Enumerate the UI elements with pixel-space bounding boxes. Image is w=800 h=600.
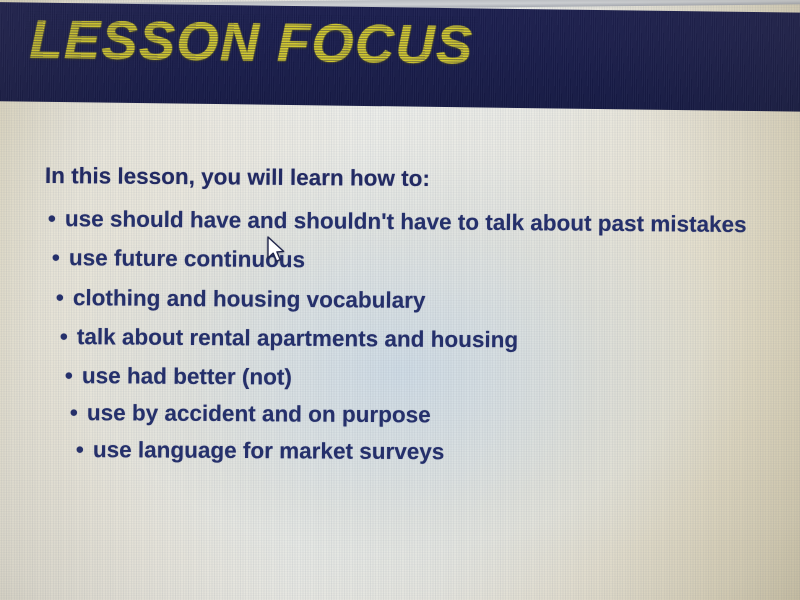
title-banner: LESSON FOCUS — [0, 2, 800, 112]
page-title: LESSON FOCUS — [29, 13, 474, 73]
slide-screenshot: LESSON FOCUS In this lesson, you will le… — [0, 0, 800, 600]
